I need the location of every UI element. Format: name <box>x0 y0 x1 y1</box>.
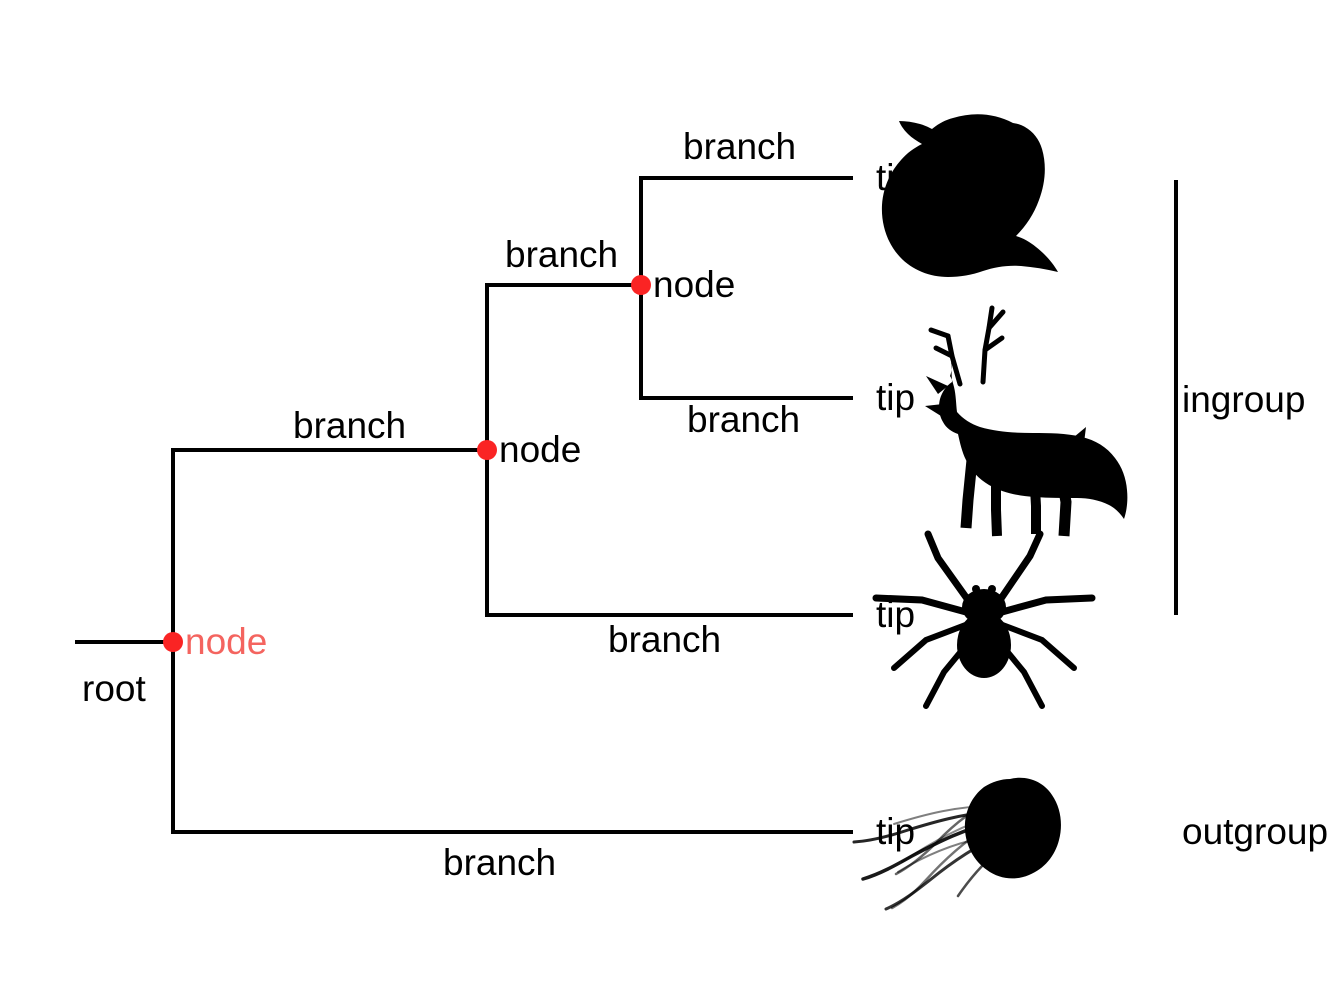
branch-label-spider: branch <box>608 621 721 658</box>
diagram-canvas: root node node node branch branch branch… <box>0 0 1344 1008</box>
branch-label-jellyfish: branch <box>443 844 556 881</box>
root-node-dot[interactable] <box>163 632 183 652</box>
inner-node-dot[interactable] <box>477 440 497 460</box>
branch-label-bird: branch <box>683 128 796 165</box>
deer-silhouette <box>925 308 1127 536</box>
branch-label-upper: branch <box>505 236 618 273</box>
upper-node-label: node <box>653 266 735 303</box>
inner-node-label: node <box>499 431 581 468</box>
phylogenetic-tree-graphic <box>0 0 1344 1008</box>
outgroup-label: outgroup <box>1182 813 1328 850</box>
ingroup-label: ingroup <box>1182 381 1305 418</box>
tip-label-spider: tip <box>876 596 915 633</box>
branch-label-deer: branch <box>687 401 800 438</box>
upper-node-dot[interactable] <box>631 275 651 295</box>
tree-lines <box>75 176 853 834</box>
tip-label-jellyfish: tip <box>876 813 915 850</box>
tip-label-bird: tip <box>876 159 915 196</box>
branch-label-inner: branch <box>293 407 406 444</box>
root-label: root <box>82 670 146 707</box>
root-node-label: node <box>185 623 267 660</box>
tip-label-deer: tip <box>876 379 915 416</box>
